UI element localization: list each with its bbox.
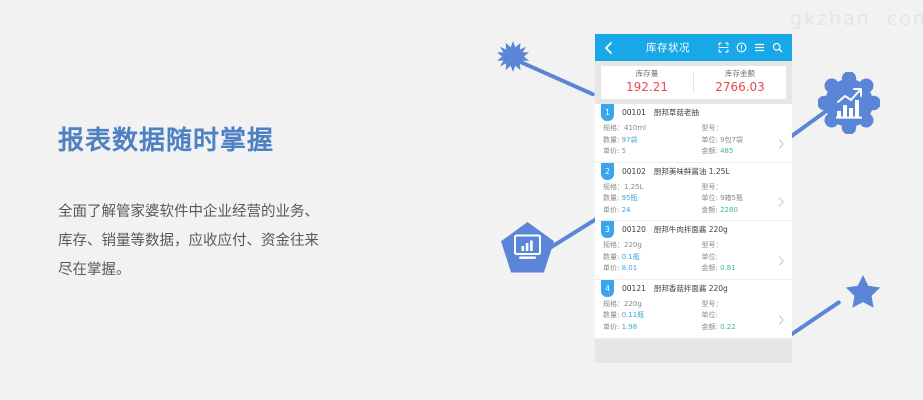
- item-code: 00121: [622, 284, 646, 293]
- spec-value: 410ml: [624, 124, 646, 132]
- list-item-header: 1 00101 厨邦草菇老抽: [595, 104, 792, 121]
- price-label: 单价:: [603, 206, 619, 214]
- item-index-badge: 2: [601, 163, 614, 180]
- connector-line-bottom-right: [788, 300, 842, 338]
- unit-label: 单位:: [702, 136, 718, 144]
- row-qty: 数量: 97袋: [603, 135, 694, 147]
- description-line-2: 库存、销量等数据，应收应付、资金往来: [58, 227, 378, 256]
- spec-label: 规格：: [603, 300, 624, 308]
- description-line-1: 全面了解管家婆软件中企业经营的业务、: [58, 198, 378, 227]
- flower-bar-chart-badge: [818, 72, 880, 134]
- row-spec: 规格：1.25L: [603, 182, 694, 194]
- model-label: 型号：: [702, 124, 723, 132]
- item-name: 厨邦美味鲜酱油 1.25L: [654, 166, 730, 177]
- row-price: 单价: 8.01: [603, 263, 694, 275]
- spec-value: 220g: [624, 241, 642, 249]
- row-price: 单价: 5: [603, 146, 694, 158]
- list-item[interactable]: 1 00101 厨邦草菇老抽 规格：410ml 数量: 97袋 单价: 5 型号…: [595, 104, 792, 163]
- list-item[interactable]: 2 00102 厨邦美味鲜酱油 1.25L 规格：1.25L 数量: 95瓶 单…: [595, 163, 792, 222]
- spec-label: 规格：: [603, 183, 624, 191]
- summary-stats-panel: 库存量 192.21 库存金额 2766.03: [601, 66, 786, 99]
- site-watermark: gkzhan. com: [790, 8, 923, 30]
- qty-value: 95瓶: [622, 194, 638, 202]
- spec-label: 规格：: [603, 241, 624, 249]
- list-item[interactable]: 4 00121 厨邦香菇拌面酱 220g 规格：220g 数量: 0.11瓶 单…: [595, 280, 792, 339]
- stat-stock-quantity: 库存量 192.21: [601, 69, 693, 95]
- star-badge: [845, 274, 881, 309]
- scan-frame-icon[interactable]: [718, 42, 729, 53]
- stat-value: 192.21: [601, 79, 693, 95]
- item-index-badge: 4: [601, 280, 614, 297]
- pentagon-monitor-chart-badge: [501, 222, 554, 273]
- amount-value: 0.81: [720, 264, 736, 272]
- stat-stock-amount: 库存金额 2766.03: [694, 69, 786, 95]
- amount-label: 金额:: [702, 206, 718, 214]
- qty-label: 数量:: [603, 136, 619, 144]
- amount-value: 485: [720, 147, 733, 155]
- description-line-3: 尽在掌握。: [58, 256, 378, 285]
- row-qty: 数量: 0.1瓶: [603, 252, 694, 264]
- amount-label: 金额:: [702, 323, 718, 331]
- app-header: 库存状况: [595, 34, 792, 61]
- row-price: 单价: 24: [603, 205, 694, 217]
- item-name: 厨邦草菇老抽: [654, 107, 699, 118]
- row-spec: 规格：220g: [603, 240, 694, 252]
- spec-value: 220g: [624, 300, 642, 308]
- qty-label: 数量:: [603, 311, 619, 319]
- list-item-header: 2 00102 厨邦美味鲜酱油 1.25L: [595, 163, 792, 180]
- unit-value: 9包7袋: [720, 136, 743, 144]
- price-value: 24: [622, 206, 631, 214]
- detail-column-left: 规格：220g 数量: 0.1瓶 单价: 8.01: [595, 240, 694, 275]
- list-item-header: 3 00120 厨邦牛肉拌面酱 220g: [595, 221, 792, 238]
- qty-value: 0.11瓶: [622, 311, 645, 319]
- description-text: 全面了解管家婆软件中企业经营的业务、 库存、销量等数据，应收应付、资金往来 尽在…: [58, 198, 378, 285]
- item-name: 厨邦香菇拌面酱 220g: [654, 283, 728, 294]
- item-code: 00102: [622, 167, 646, 176]
- chevron-right-icon[interactable]: [778, 134, 785, 145]
- item-index-badge: 3: [601, 221, 614, 238]
- qty-label: 数量:: [603, 194, 619, 202]
- detail-column-left: 规格：1.25L 数量: 95瓶 单价: 24: [595, 182, 694, 217]
- row-model: 型号：: [702, 182, 793, 194]
- stat-label: 库存量: [601, 69, 693, 79]
- row-spec: 规格：410ml: [603, 123, 694, 135]
- chevron-right-icon[interactable]: [778, 310, 785, 321]
- info-circle-icon[interactable]: [736, 42, 747, 53]
- app-title: 库存状况: [616, 40, 718, 55]
- unit-value: 9箱5瓶: [720, 194, 743, 202]
- inventory-list[interactable]: 1 00101 厨邦草菇老抽 规格：410ml 数量: 97袋 单价: 5 型号…: [595, 104, 792, 339]
- chevron-right-icon[interactable]: [778, 193, 785, 204]
- list-item-details: 规格：220g 数量: 0.11瓶 单价: 1.98 型号： 单位: 金额: 0…: [595, 297, 792, 335]
- amount-label: 金额:: [702, 264, 718, 272]
- price-value: 1.98: [622, 323, 638, 331]
- item-code: 00120: [622, 225, 646, 234]
- amount-value: 2280: [720, 206, 738, 214]
- amount-label: 金额:: [702, 147, 718, 155]
- qty-value: 0.1瓶: [622, 253, 640, 261]
- detail-column-left: 规格：220g 数量: 0.11瓶 单价: 1.98: [595, 299, 694, 334]
- stat-value: 2766.03: [694, 79, 786, 95]
- unit-label: 单位:: [702, 253, 718, 261]
- price-value: 5: [622, 147, 626, 155]
- list-menu-icon[interactable]: [754, 42, 765, 53]
- header-icon-group: [718, 42, 785, 53]
- item-code: 00101: [622, 108, 646, 117]
- item-index-badge: 1: [601, 104, 614, 121]
- qty-value: 97袋: [622, 136, 638, 144]
- item-name: 厨邦牛肉拌面酱 220g: [654, 224, 728, 235]
- starburst-badge: [496, 40, 530, 74]
- row-price: 单价: 1.98: [603, 322, 694, 334]
- list-item-details: 规格：220g 数量: 0.1瓶 单价: 8.01 型号： 单位: 金额: 0.…: [595, 238, 792, 276]
- search-icon[interactable]: [772, 42, 783, 53]
- price-label: 单价:: [603, 147, 619, 155]
- price-value: 8.01: [622, 264, 638, 272]
- phone-mockup: 库存状况: [595, 34, 792, 363]
- list-item-details: 规格：410ml 数量: 97袋 单价: 5 型号： 单位: 9包7袋 金额: …: [595, 121, 792, 159]
- chevron-right-icon[interactable]: [778, 252, 785, 263]
- unit-label: 单位:: [702, 311, 718, 319]
- price-label: 单价:: [603, 264, 619, 272]
- row-spec: 规格：220g: [603, 299, 694, 311]
- model-label: 型号：: [702, 183, 723, 191]
- list-item-header: 4 00121 厨邦香菇拌面酱 220g: [595, 280, 792, 297]
- qty-label: 数量:: [603, 253, 619, 261]
- page-title: 报表数据随时掌握: [58, 120, 274, 157]
- model-label: 型号：: [702, 241, 723, 249]
- stat-label: 库存金额: [694, 69, 786, 79]
- amount-value: 0.22: [720, 323, 736, 331]
- list-item[interactable]: 3 00120 厨邦牛肉拌面酱 220g 规格：220g 数量: 0.1瓶 单价…: [595, 221, 792, 280]
- list-item-details: 规格：1.25L 数量: 95瓶 单价: 24 型号： 单位: 9箱5瓶 金额:…: [595, 180, 792, 218]
- row-qty: 数量: 95瓶: [603, 193, 694, 205]
- model-label: 型号：: [702, 300, 723, 308]
- row-model: 型号：: [702, 123, 793, 135]
- spec-value: 1.25L: [624, 183, 644, 191]
- unit-label: 单位:: [702, 194, 718, 202]
- row-qty: 数量: 0.11瓶: [603, 310, 694, 322]
- detail-column-left: 规格：410ml 数量: 97袋 单价: 5: [595, 123, 694, 158]
- price-label: 单价:: [603, 323, 619, 331]
- spec-label: 规格：: [603, 124, 624, 132]
- back-chevron-icon[interactable]: [602, 40, 616, 56]
- slide-canvas: gkzhan. com 报表数据随时掌握 全面了解管家婆软件中企业经营的业务、 …: [0, 0, 923, 400]
- row-model: 型号：: [702, 299, 793, 311]
- row-model: 型号：: [702, 240, 793, 252]
